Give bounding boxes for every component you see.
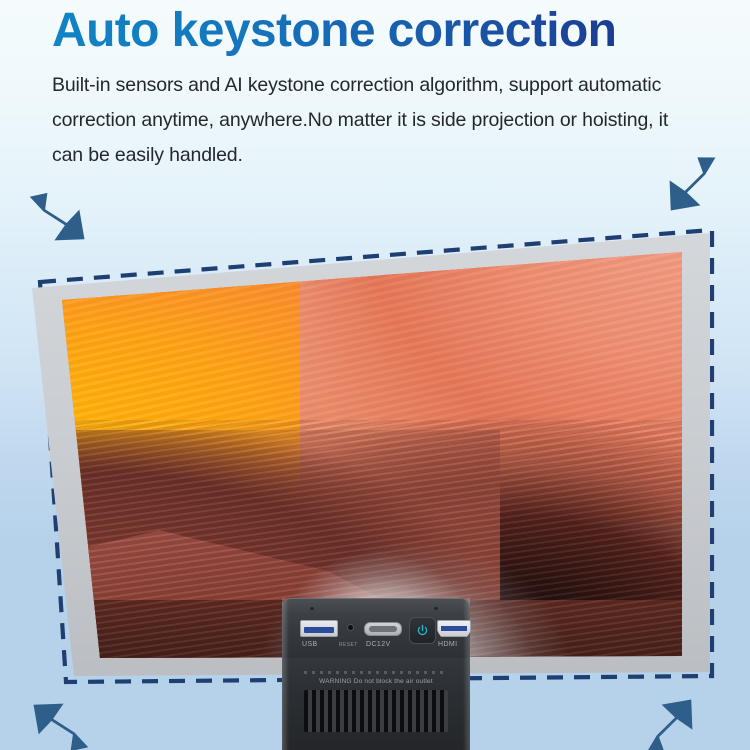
arrow-bottom-right — [638, 696, 700, 750]
warning-label: WARNING Do not block the air outlet — [282, 678, 470, 685]
body-edge-highlight-left — [282, 598, 289, 750]
screw-icon-left — [310, 606, 314, 610]
usb-port-label: USB — [302, 641, 318, 648]
reset-pinhole[interactable] — [348, 625, 353, 630]
arrow-top-left — [26, 186, 88, 248]
power-button[interactable] — [409, 617, 436, 644]
arrow-bottom-left — [30, 696, 92, 750]
perforation-row — [304, 671, 448, 674]
power-icon — [416, 624, 429, 637]
page-title: Auto keystone correction — [52, 6, 712, 56]
projector-device: USB RESET DC12V HDMI WARNING Do not bloc… — [282, 598, 470, 750]
air-vent-grille — [304, 690, 448, 732]
dc-port-label: DC12V — [366, 641, 391, 648]
screw-icon-right — [434, 606, 438, 610]
hdmi-port[interactable] — [437, 620, 471, 637]
dc-power-port[interactable] — [364, 622, 402, 636]
description-text: Built-in sensors and AI keystone correct… — [52, 68, 692, 173]
usb-port[interactable] — [300, 620, 338, 637]
arrow-top-right — [662, 152, 724, 214]
reset-label: RESET — [339, 642, 358, 648]
hdmi-port-label: HDMI — [438, 641, 458, 648]
product-feature-banner: Auto keystone correction Built-in sensor… — [0, 0, 750, 750]
